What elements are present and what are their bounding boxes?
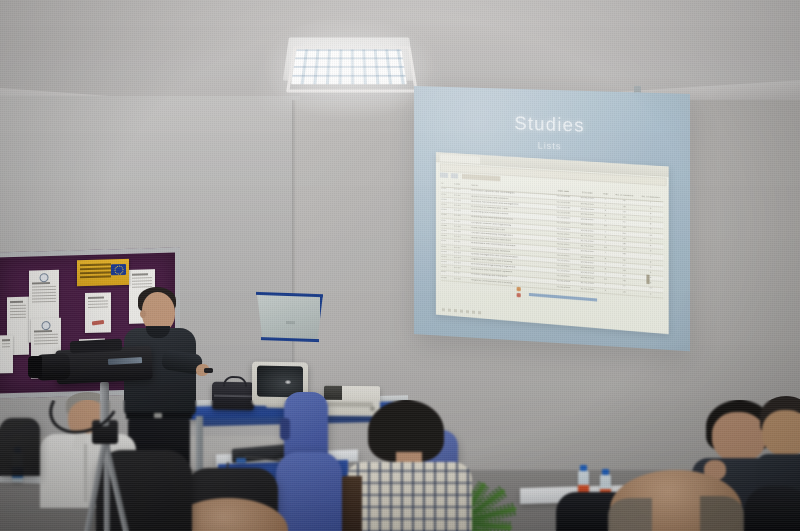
table-cell: I [600,220,610,223]
table-cell: 6 [638,207,663,211]
table-cell: 61 [613,231,636,235]
table-cell: 30.06.2013 [576,277,598,281]
table-cell: ST-14 [454,257,469,261]
delete-icon [517,293,521,297]
pagination-controls [442,308,482,314]
table-cell: 30.06.2010 [576,208,598,212]
table-cell: 1017 [441,271,452,274]
notice-document [0,335,13,373]
table-cell: 24 [613,237,636,241]
eu-poster-text [80,263,111,280]
table-cell: II [600,289,610,292]
wall-cabinet [251,292,323,343]
studies-table: ID Code Name Start date End date Year No… [441,182,663,319]
th-id: ID [441,182,452,185]
table-cell: 01.02.2013 [553,280,575,284]
table-cell: I [600,204,610,207]
table-cell: 9 [638,212,663,216]
browser-tab [440,154,480,164]
usb-device [236,458,246,463]
table-cell: 38 [613,205,636,209]
slide-screenshot: ID Code Name Start date End date Year No… [436,152,669,334]
audience-person-plaid-shirt [346,400,476,531]
table-cell: II [600,257,610,260]
table-cell: 31.01.2012 [576,234,598,238]
table-cell: 1013 [441,250,452,253]
laptop-bag [212,382,254,411]
bottle-cap [580,465,587,471]
edit-icon [517,287,521,291]
table-cell: 5 [638,239,663,243]
table-cell: 31.01.2012 [576,239,598,243]
table-cell: I [600,241,610,244]
th-teachers: No. of teachers [638,196,663,200]
table-cell: 1007 [441,219,452,222]
foreground-silhouette [744,486,800,531]
official-seal-icon [42,321,51,330]
table-cell: 01.10.2009 [553,211,575,215]
table-cell: 01.10.2009 [553,195,575,199]
table-cell: 01.10.2009 [553,201,575,205]
table-cell: 31 [613,215,636,219]
table-cell: III [600,225,610,228]
table-cell: 01.02.2011 [553,232,575,236]
table-cell: 30.06.2013 [576,266,598,270]
table-cell: II [600,209,610,212]
text-cursor-icon [646,275,649,285]
cabinet-frame [251,292,323,343]
table-cell: 30.06.2011 [576,229,598,233]
table-cell: ST-03 [454,199,469,203]
table-cell: 52 [613,258,636,262]
bag-zipper [214,395,252,397]
th-end: End date [576,191,598,195]
table-cell: 33 [613,269,636,273]
table-cell: 01.10.2012 [553,269,575,273]
table-cell: 01.10.2010 [553,227,575,231]
table-cell: I [600,231,610,234]
table-cell: I [600,262,610,265]
table-cell: ST-04 [454,204,469,208]
printer-top [324,386,342,400]
table-cell: 30.06.2010 [576,213,598,217]
table-cell: 01.10.2010 [553,217,575,221]
table-cell: 31.01.2012 [576,245,598,249]
table-cell: III [600,278,610,281]
table-cell: 1014 [441,256,452,259]
plaid-shirt [346,462,472,531]
table-cell: 30.06.2013 [576,271,598,275]
table-cell: III [600,247,610,250]
table-cell: II [600,215,610,218]
conference-room-photo: Studies Lists ID Code Name Start date En… [0,0,800,531]
th-year: Year [600,193,610,196]
table-cell: 01.10.2009 [553,206,575,210]
table-cell: 30.06.2011 [576,218,598,222]
table-cell: I [600,284,610,287]
table-cell: 01.02.2011 [553,238,575,242]
table-cell: 1005 [441,209,452,212]
table-cell: 5 [638,292,663,297]
table-cell: 30.06.2012 [576,255,598,259]
chair-armrest [280,418,290,440]
presentation-remote [204,368,213,373]
table-cell: 48 [613,279,636,283]
table-cell: 30.06.2010 [576,197,598,201]
table-cell: 36 [613,242,636,246]
table-cell: 55 [613,210,636,214]
table-cell: II [600,236,610,239]
table-cell: 01.02.2011 [553,243,575,247]
table-cell: 01.10.2011 [553,248,575,252]
presenter-ear [140,310,146,318]
table-cell: 47 [613,221,636,225]
person-hair [608,498,652,531]
table-cell: 1002 [441,193,452,196]
table-cell: 01.10.2012 [553,275,575,279]
table-cell: 1009 [441,230,452,233]
table-cell: 1008 [441,224,452,227]
camera-lens-hood [28,356,42,378]
audience-bald-man-foreground [610,470,742,531]
table-cell: 1015 [441,261,452,264]
table-cell: 01.10.2012 [553,264,575,268]
table-cell: 1018 [441,276,452,279]
table-cell: ST-13 [454,251,469,255]
table-cell: 29 [613,226,636,230]
eu-funding-poster [77,259,129,286]
table-cell: 5 [638,217,663,221]
table-cell: 1016 [441,266,452,269]
table-cell: 27 [613,263,636,267]
table-cell: ST-09 [454,231,469,235]
table-cell: 8 [638,223,663,227]
lamp-rim [286,46,418,92]
table-cell: ST-01 [454,189,469,193]
eu-flag-icon [111,264,126,275]
table-cell: 11 [638,233,663,237]
table-cell: 30.06.2011 [576,224,598,228]
official-seal-icon [40,273,49,282]
monitor-reflection [285,380,291,384]
table-cell: 1003 [441,198,452,201]
table-cell: 19 [613,247,636,251]
table-body: 1001ST-01Information Systems and Technol… [441,187,663,298]
table-cell: ST-06 [454,215,469,219]
table-cell: 31.01.2014 [576,287,598,291]
ceiling-lamp [286,34,412,96]
table-cell: 01.10.2011 [553,254,575,258]
table-cell: 21 [613,274,636,278]
bag-handle [223,376,247,387]
table-cell: 1004 [441,204,452,207]
notice-document [85,292,111,333]
table-cell: 1012 [441,245,452,248]
table-cell: 44 [613,253,636,257]
table-cell: 01.10.2011 [553,259,575,263]
table-cell: 30.06.2012 [576,250,598,254]
video-camera-rig [30,340,166,531]
table-cell: ST-07 [454,220,469,224]
table-cell: I [600,252,610,255]
table-cell: 1006 [441,214,452,217]
table-cell: 7 [638,201,663,205]
table-cell: 4 [638,228,663,232]
person-hair [700,496,744,531]
table-cell: 42 [613,199,636,203]
table-cell: 30.06.2012 [576,261,598,265]
table-cell: ST-15 [454,262,469,266]
table-cell: 31.01.2014 [576,282,598,286]
table-cell: 30.06.2010 [576,202,598,206]
table-cell: ST-11 [454,241,469,245]
th-code: Code [454,183,469,187]
table-cell: ST-02 [454,194,469,198]
table-cell: ST-16 [454,267,469,271]
projection-screen: Studies Lists ID Code Name Start date En… [414,86,690,351]
bottle-cap [602,469,609,475]
table-cell: 1011 [441,240,452,243]
table-cell: I [600,273,610,276]
table-cell: 01.02.2013 [553,285,575,289]
table-cell: ST-12 [454,246,469,250]
th-start: Start date [553,190,575,194]
table-cell: II [600,268,610,271]
cabinet-label [286,321,295,324]
person-head [762,410,800,456]
table-cell: ST-08 [454,225,469,229]
table-cell: 26 [613,290,636,294]
table-cell: 1010 [441,235,452,238]
table-cell: I [600,199,610,202]
table-cell: ST-05 [454,210,469,214]
table-cell: ST-10 [454,236,469,240]
table-cell: 01.10.2010 [553,222,575,226]
th-students: No. of students [613,194,636,198]
table-cell: 1001 [441,188,452,191]
table-cell: ST-18 [454,277,469,281]
table-cell: 57 [613,285,636,289]
table-cell: ST-17 [454,272,469,276]
